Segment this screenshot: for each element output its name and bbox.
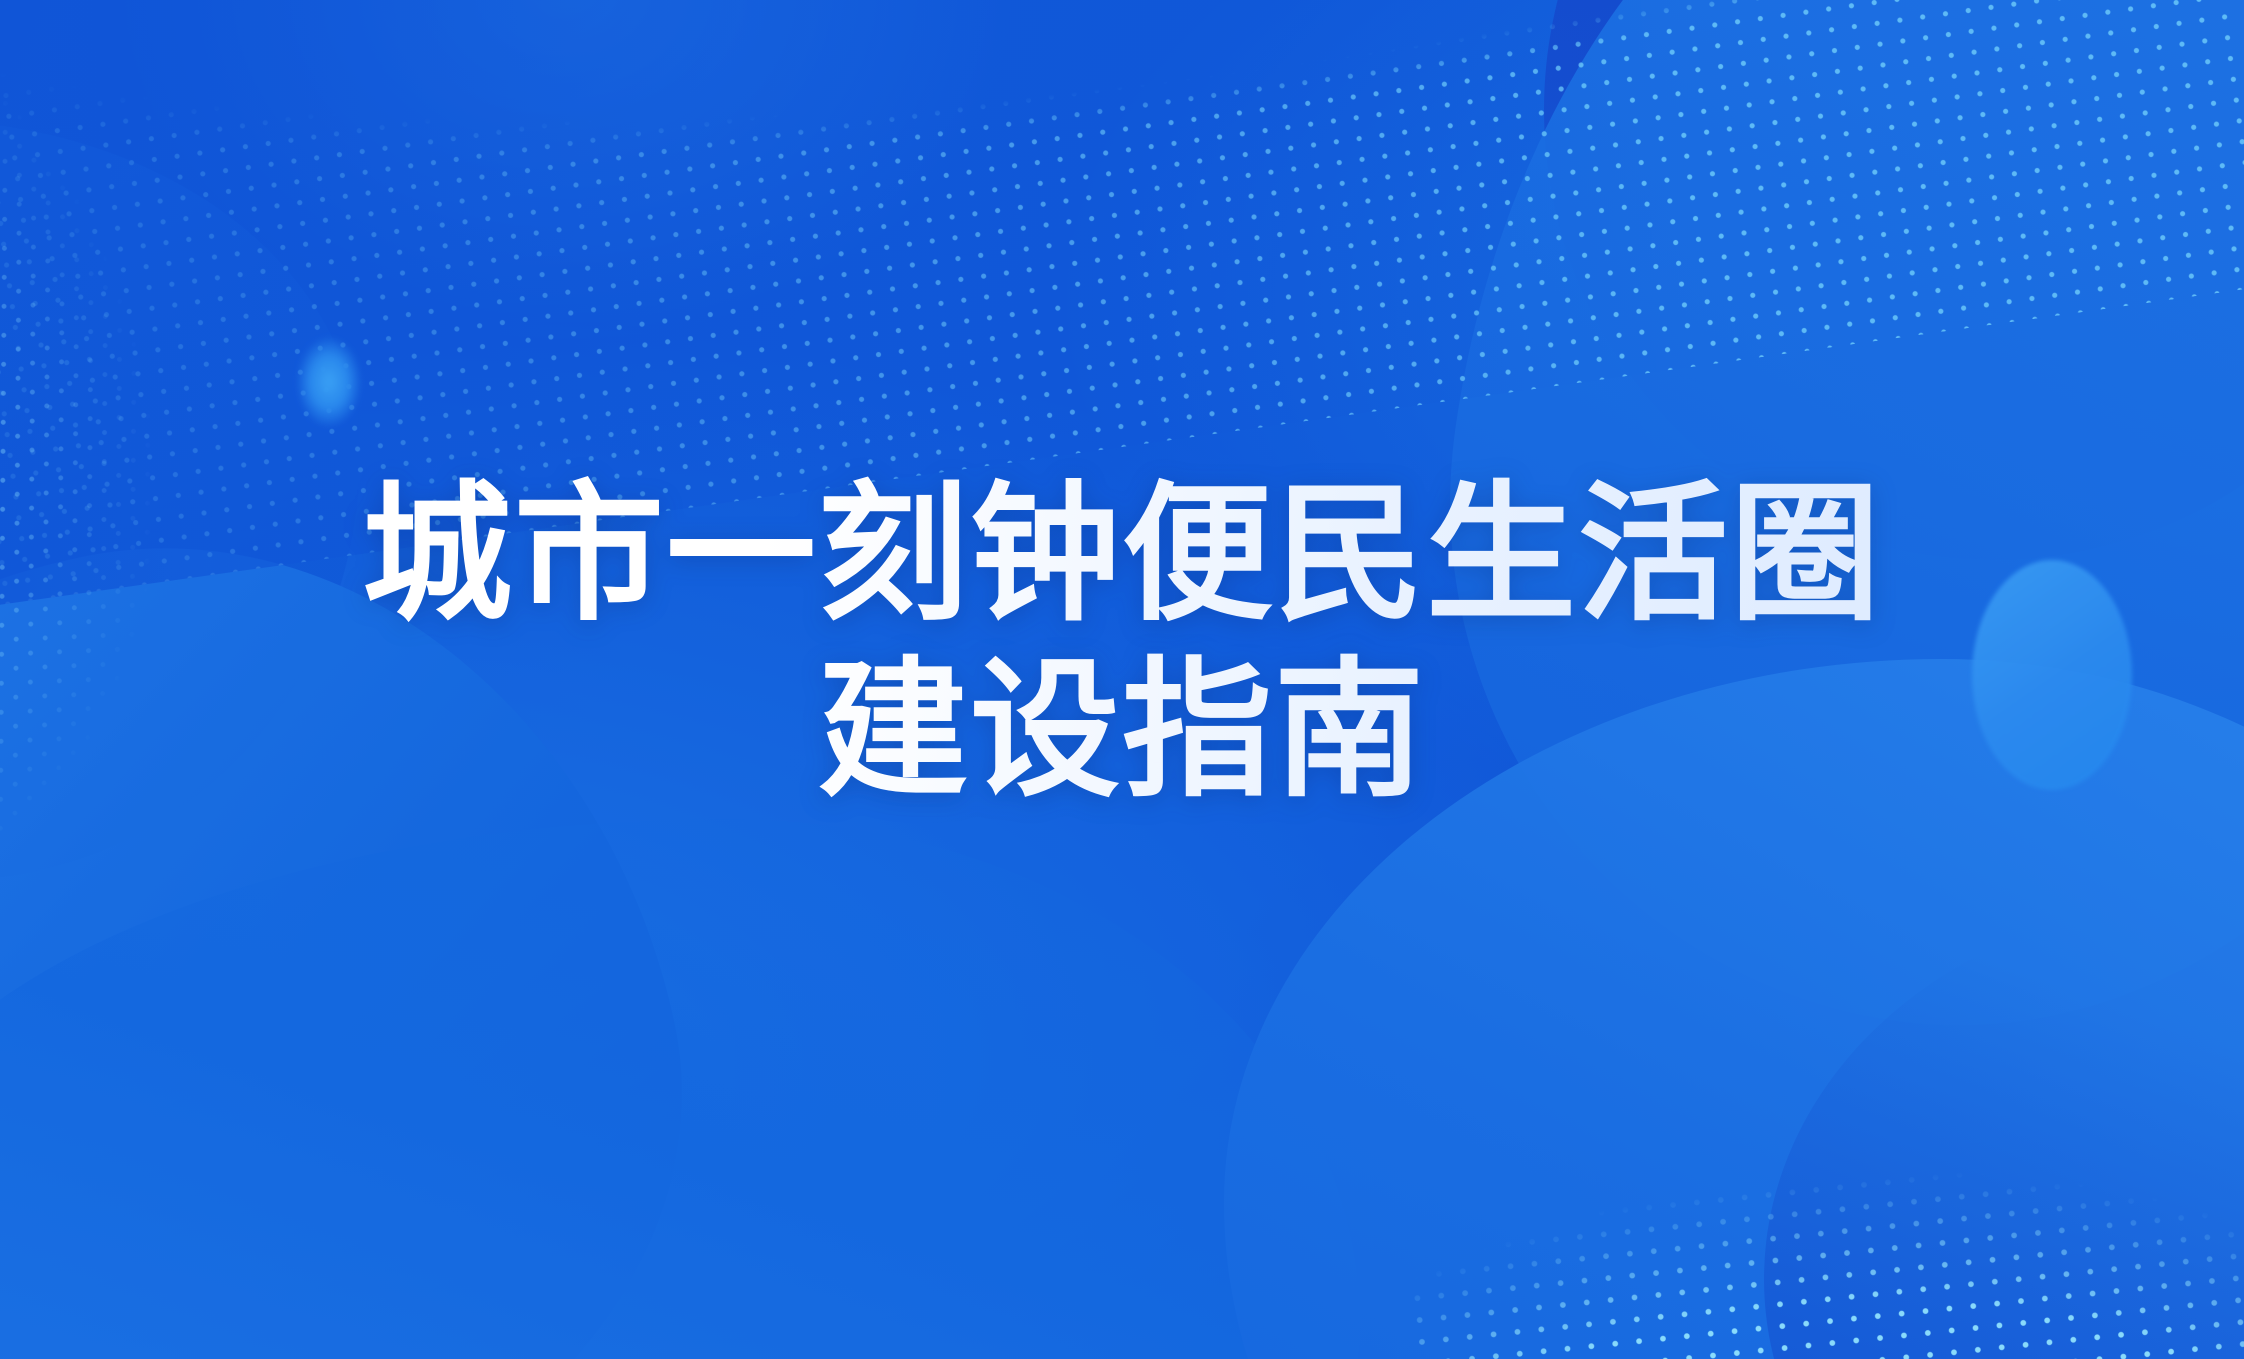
- poster-title: 城市一刻钟便民生活圈 建设指南: [0, 474, 2244, 812]
- title-line-2: 建设指南: [0, 650, 2244, 812]
- title-line-1: 城市一刻钟便民生活圈: [0, 474, 2244, 636]
- poster-canvas: 城市一刻钟便民生活圈 建设指南: [0, 0, 2244, 1359]
